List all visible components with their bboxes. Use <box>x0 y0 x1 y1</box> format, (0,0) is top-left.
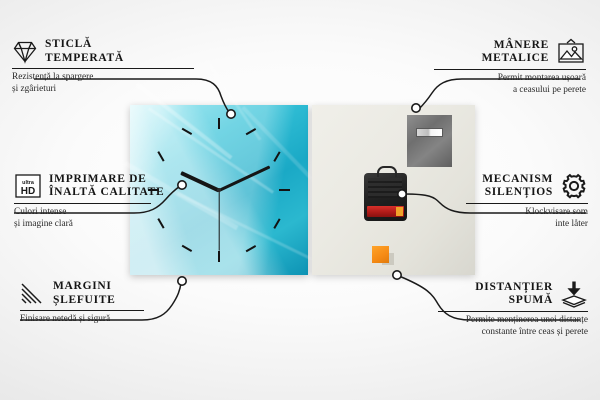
infographic-canvas: STICLĂ TEMPERATĂ Rezistență la spargere … <box>0 0 600 400</box>
callout-rule <box>466 203 588 204</box>
callout-title-line2: SPUMĂ <box>475 294 553 308</box>
callout-metal-handles: MÂNERE METALICE Permit montarea ușoară a… <box>434 38 586 96</box>
callout-subtitle-line2: inte låter <box>466 219 588 231</box>
callout-header: ultra HD IMPRIMARE DE ÎNALTĂ CALITATE <box>14 172 174 200</box>
callout-subtitle-line1: Klockvisare som <box>466 207 588 219</box>
callout-header: MARGINI ȘLEFUITE <box>20 280 180 307</box>
callout-title-line1: MARGINI <box>53 280 115 294</box>
callout-rule <box>12 68 194 69</box>
callout-subtitle-line1: Finisare netedă și sigură <box>20 314 180 326</box>
callout-title-line2: SILENȚIOS <box>482 186 553 200</box>
callout-title-line2: ÎNALTĂ CALITATE <box>49 186 164 200</box>
hour-mark <box>273 151 280 161</box>
callout-rule <box>438 311 588 312</box>
callout-title-line1: MECANISM <box>482 173 553 187</box>
callout-subtitle-line2: și imagine clară <box>14 219 174 231</box>
hour-mark <box>182 245 192 252</box>
hanger-slot <box>416 128 443 137</box>
callout-title-line1: MÂNERE <box>482 39 549 53</box>
hand-hub <box>217 188 221 192</box>
callout-subtitle-line2: a ceasului pe perete <box>434 85 586 97</box>
hour-mark <box>218 251 220 262</box>
battery-terminal <box>396 207 403 216</box>
clock-back-panel <box>312 105 475 275</box>
foam-spacer <box>372 246 389 263</box>
callout-rule <box>434 69 586 70</box>
hour-hand <box>180 171 220 192</box>
callout-header: MÂNERE METALICE <box>434 38 586 66</box>
hour-mark <box>218 118 220 129</box>
minute-hand <box>218 165 270 192</box>
callout-header: STICLĂ TEMPERATĂ <box>12 38 198 65</box>
callout-foam-spacer: DISTANȚIER SPUMĂ Permite menținerea unei… <box>438 280 588 338</box>
callout-subtitle-line1: Culori intense <box>14 207 174 219</box>
spacer-press-icon <box>560 280 588 308</box>
battery <box>367 206 404 217</box>
callout-subtitle-line1: Permit montarea ușoară <box>434 73 586 85</box>
callout-header: MECANISM SILENȚIOS <box>466 172 588 200</box>
callout-title-line1: DISTANȚIER <box>475 281 553 295</box>
picture-hanger-icon <box>556 38 586 66</box>
hour-mark <box>246 245 256 252</box>
mechanism-vents <box>368 178 402 198</box>
callout-tempered-glass: STICLĂ TEMPERATĂ Rezistență la spargere … <box>12 38 198 95</box>
product-photo <box>130 105 475 275</box>
quartz-mechanism <box>364 173 407 221</box>
callout-title-line2: TEMPERATĂ <box>45 52 124 66</box>
second-hand <box>218 191 219 251</box>
callout-title-line2: METALICE <box>482 52 549 66</box>
hour-mark <box>273 218 280 228</box>
callout-title-line1: STICLĂ <box>45 38 124 52</box>
metal-hanger <box>407 115 452 167</box>
hour-mark <box>279 189 290 191</box>
callout-silent-mechanism: MECANISM SILENȚIOS Klockvisare som inte … <box>466 172 588 230</box>
hour-mark <box>157 151 164 161</box>
callout-header: DISTANȚIER SPUMĂ <box>438 280 588 308</box>
callout-high-quality-print: ultra HD IMPRIMARE DE ÎNALTĂ CALITATE Cu… <box>14 172 174 230</box>
callout-subtitle-line1: Rezistență la spargere <box>12 72 198 84</box>
callout-rule <box>14 203 151 204</box>
callout-subtitle-line2: și zgârieturi <box>12 84 198 96</box>
callout-polished-edges: MARGINI ȘLEFUITE Finisare netedă și sigu… <box>20 280 180 326</box>
callout-title-line1: IMPRIMARE DE <box>49 173 164 187</box>
gear-icon <box>560 172 588 200</box>
diamond-icon <box>12 40 38 64</box>
callout-subtitle-line2: constante între ceas și perete <box>438 327 588 339</box>
beveled-edge-icon <box>20 282 46 306</box>
callout-title-line2: ȘLEFUITE <box>53 294 115 308</box>
mechanism-loop <box>377 166 397 177</box>
svg-text:HD: HD <box>21 186 35 197</box>
ultra-hd-icon: ultra HD <box>14 172 42 200</box>
callout-rule <box>20 310 144 311</box>
callout-subtitle-line1: Permite menținerea unei distanțe <box>438 315 588 327</box>
